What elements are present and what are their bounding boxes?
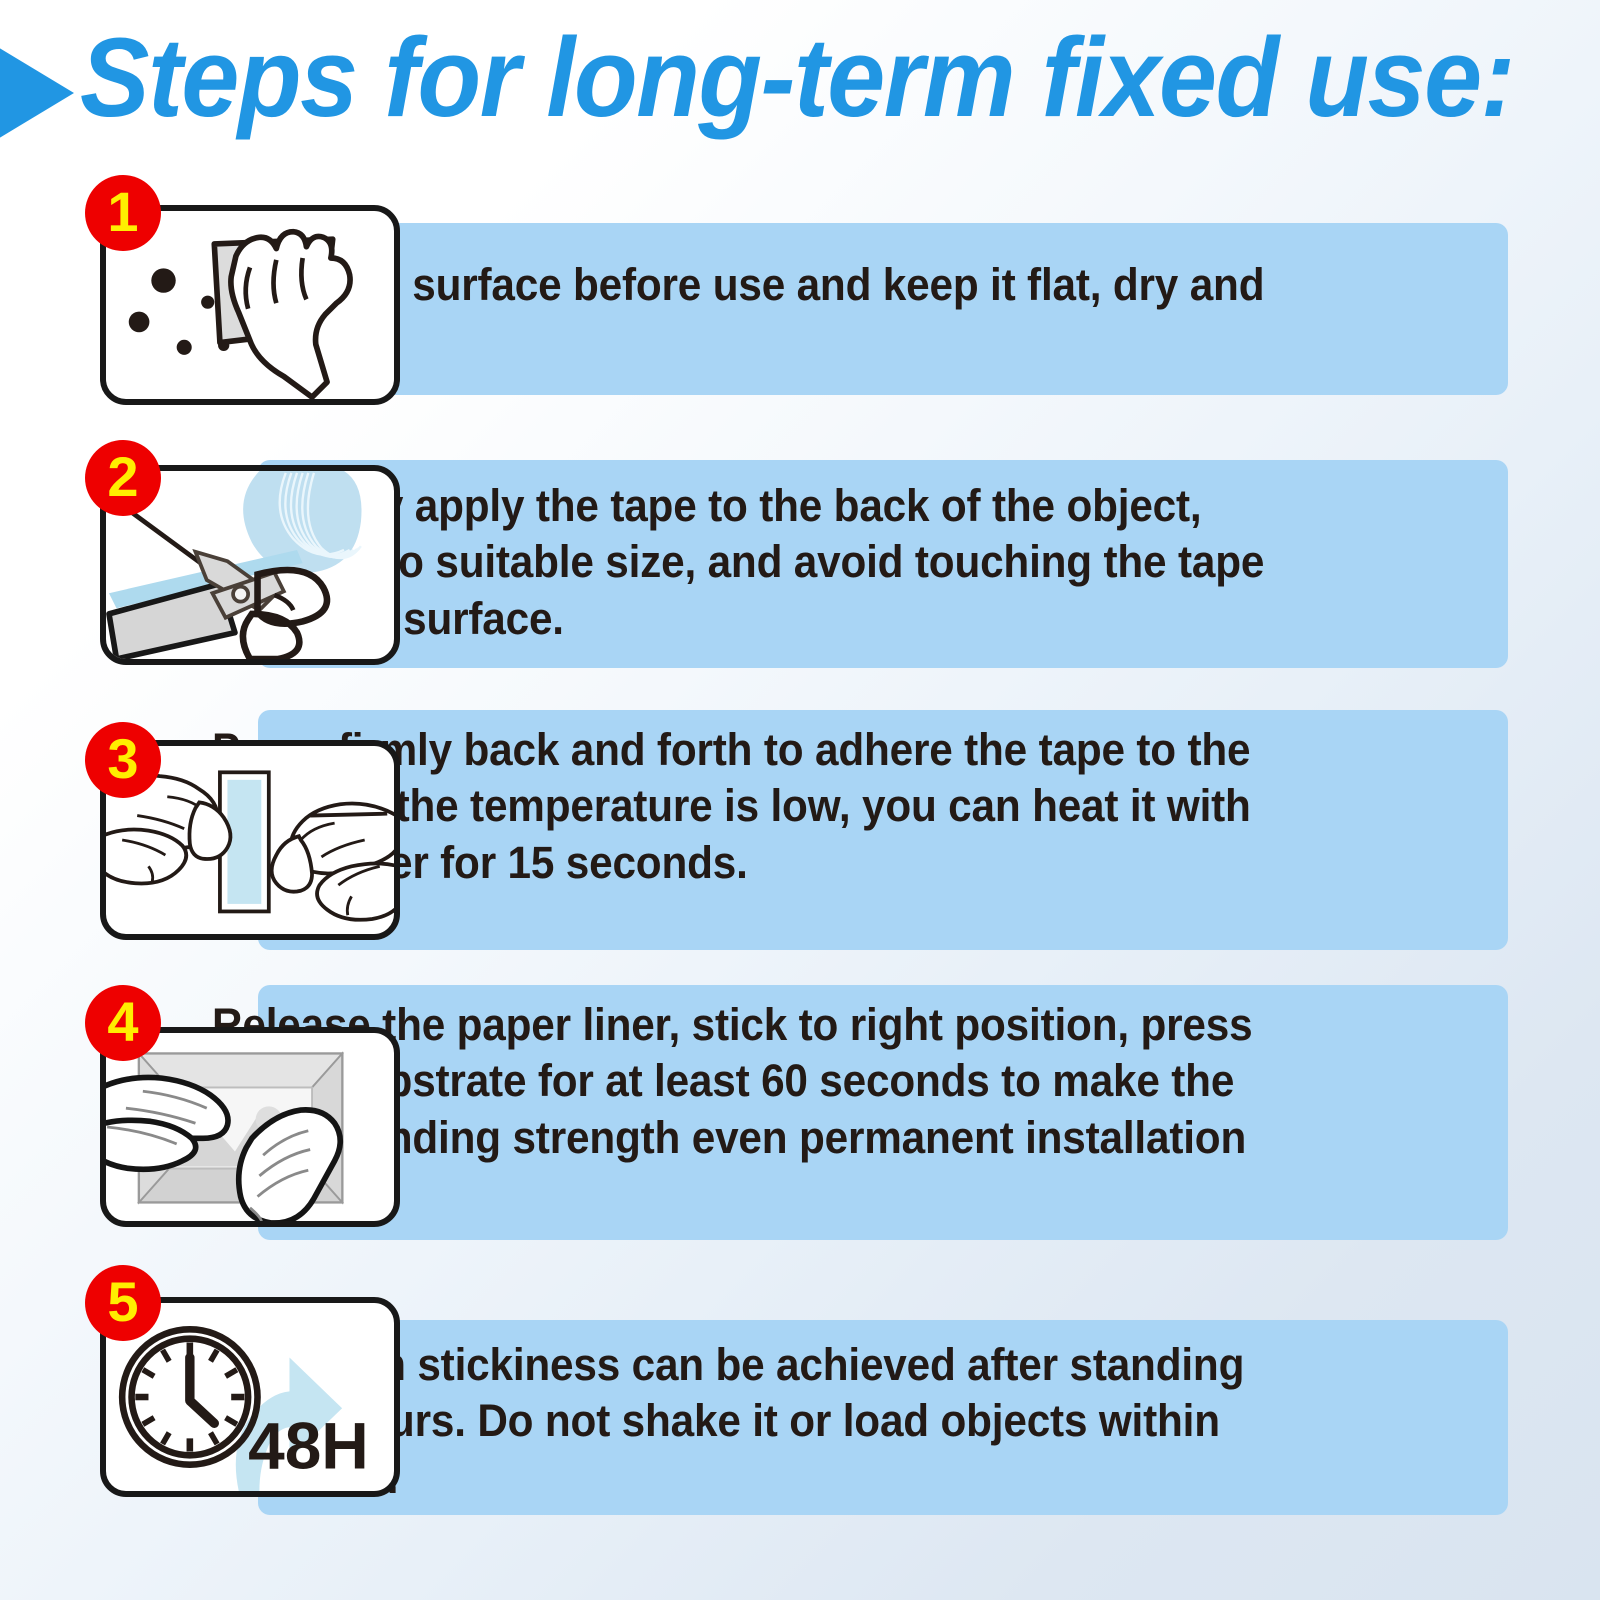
header: Steps for long-term fixed use:: [0, 18, 1600, 148]
page-title: Steps for long-term fixed use:: [80, 8, 1514, 148]
play-triangle-icon: [0, 46, 74, 140]
step-row: Press firmly back and forth to adhere th…: [0, 700, 1600, 960]
step-illustration-card: [100, 1027, 400, 1227]
step-number-badge: 1: [85, 175, 161, 251]
step-number-badge: 2: [85, 440, 161, 516]
step-number-badge: 3: [85, 722, 161, 798]
step-row: Smoothly apply the tape to the back of t…: [0, 440, 1600, 690]
step-number-badge: 5: [85, 1265, 161, 1341]
clock-48h-arrow-icon: 48H: [106, 1303, 394, 1491]
step-row: Maximum stickiness can be achieved after…: [0, 1265, 1600, 1525]
step-row: Clean the surface before use and keep it…: [0, 175, 1600, 425]
hands-pressing-frame-icon: [106, 1033, 394, 1221]
step-row: Release the paper liner, stick to right …: [0, 975, 1600, 1250]
clock-hours-label: 48H: [248, 1408, 369, 1482]
step-number-badge: 4: [85, 985, 161, 1061]
